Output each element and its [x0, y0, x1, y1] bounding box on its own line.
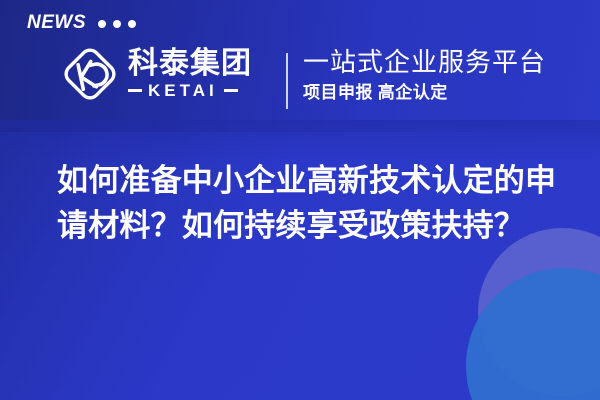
brand-name-cn: 科泰集团	[128, 49, 252, 80]
kicker-dot-icon	[113, 20, 121, 28]
brand-names: 科泰集团 KETAI	[128, 49, 252, 100]
vertical-divider-icon	[286, 53, 288, 109]
kicker-dot-icon	[98, 20, 106, 28]
brand-en-row: KETAI	[128, 82, 252, 99]
tagline-block: 一站式企业服务平台 项目申报 高企认定	[303, 48, 546, 103]
brand-name-en: KETAI	[148, 82, 218, 99]
tagline-sub: 项目申报 高企认定	[303, 84, 546, 103]
page-title: 如何准备中小企业高新技术认定的申请材料？如何持续享受政策扶持？	[57, 158, 562, 248]
brand-rule-right-icon	[224, 89, 238, 92]
news-kicker: NEWS	[27, 13, 136, 32]
ketai-diamond-kd-logo-icon	[60, 44, 120, 104]
brand-lockup: 科泰集团 KETAI	[60, 44, 252, 104]
tagline-main: 一站式企业服务平台	[303, 48, 546, 77]
kicker-dots-icon	[98, 18, 136, 28]
brand-rule-left-icon	[128, 89, 142, 92]
news-banner: NEWS 科泰集团 KETAI	[0, 0, 600, 400]
kicker-dot-icon	[128, 20, 136, 28]
news-kicker-label: NEWS	[27, 13, 86, 32]
